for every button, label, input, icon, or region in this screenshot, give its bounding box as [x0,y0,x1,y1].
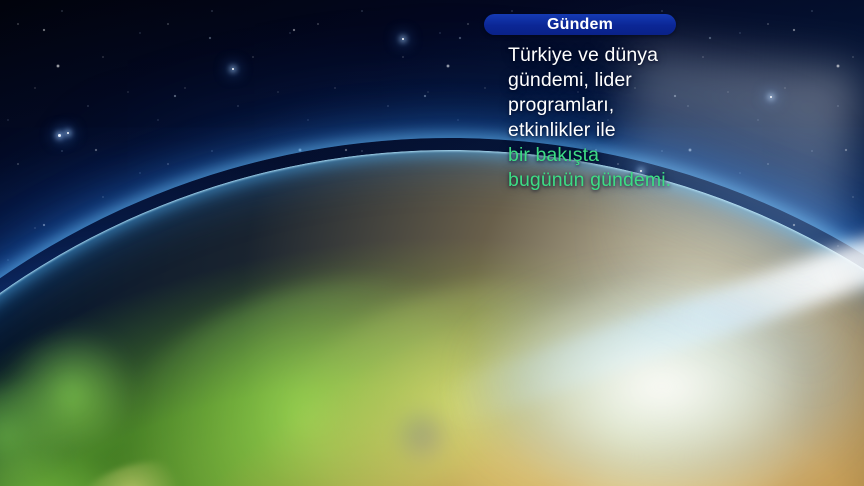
tagline-line: programları, [508,93,814,118]
gundem-badge: Gündem [484,14,676,35]
bright-star [232,68,234,70]
tagline-line: Türkiye ve dünya [508,43,814,68]
tagline-line-accent: bir bakışta [508,143,814,168]
tagline-line-accent: bugünün gündemi. [508,168,814,193]
text-panel: Gündem Türkiye ve dünya gündemi, lider p… [484,14,814,193]
tagline: Türkiye ve dünya gündemi, lider programl… [484,43,814,193]
tagline-line: gündemi, lider [508,68,814,93]
bright-star [402,38,404,40]
promo-graphic: Gündem Türkiye ve dünya gündemi, lider p… [0,0,864,486]
tagline-line: etkinlikler ile [508,118,814,143]
bright-star [67,132,69,134]
bright-star [58,134,61,137]
